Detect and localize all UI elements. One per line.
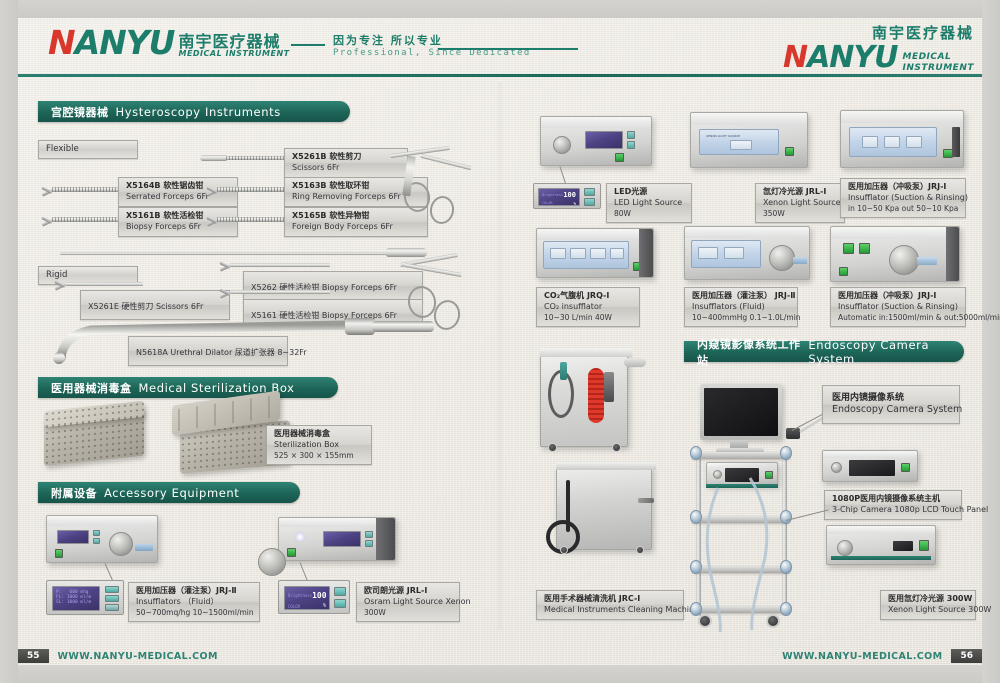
brand-slogan: 因为专注 所以专业 Professional, Since Dedicated <box>283 32 531 58</box>
device-fluid-insufflator <box>46 515 158 563</box>
lcd-closeup-osram: Brightness 100 COLOR % <box>278 580 350 614</box>
label-urethral-dilator: N5618A Urethral Dilator 尿道扩张器 8~32Fr <box>128 336 288 366</box>
brand-right-wordmark: NANYU <box>783 43 898 73</box>
label-scissors-flex: X5261B 软性剪刀 Scissors 6Fr <box>284 148 408 178</box>
slogan-dash-left <box>291 44 325 46</box>
brand-right-sub1: MEDICAL <box>902 52 974 62</box>
label-fluid-insufflator-2: 医用加压器（灌注泵） JRJ-Ⅱ Insufflators (Fluid) 10… <box>684 287 798 327</box>
device-suction-rinsing-insufflator-2 <box>830 226 960 282</box>
device-co2-insufflator <box>536 228 654 278</box>
device-xenon-light-source: XENON LIGHT SOURCE <box>690 112 808 168</box>
label-xenon-300w: 医用氙灯冷光源 300W Xenon Light Source 300W <box>880 590 976 620</box>
label-suction-rinsing-insufflator-1: 医用加压器（冲吸泵）JRJ-Ⅰ Insufflator (Suction & R… <box>840 178 966 218</box>
page-gutter <box>498 82 502 630</box>
catalog-page-spread: NANYU 南宇医疗器械 MEDICAL INSTRUMENT 因为专注 所以专… <box>0 0 1000 683</box>
label-led-light-source: LED光源 LED Light Source 80W <box>606 183 692 223</box>
brand-right-sub2: INSTRUMENT <box>902 63 974 73</box>
tag-flexible: Flexible <box>38 140 138 159</box>
page-number-left: 55 <box>18 649 49 663</box>
device-osram-light-source <box>278 517 396 561</box>
brand-chinese-name: 南宇医疗器械 <box>178 34 289 50</box>
section-banner-sterilization: 医用器械消毒盒 Medical Sterilization Box <box>38 377 338 398</box>
device-xenon-300w <box>826 525 936 565</box>
frame-left-edge <box>0 0 18 683</box>
instrument-long-shaft-hub <box>385 248 427 257</box>
frame-bottom-edge <box>0 665 1000 683</box>
slogan-dash-right <box>438 48 578 50</box>
page-header: NANYU 南宇医疗器械 MEDICAL INSTRUMENT 因为专注 所以专… <box>18 18 982 80</box>
label-foreign-body-forceps: X5165B 软性异物钳 Foreign Body Forceps 6Fr <box>284 207 428 237</box>
header-divider-rule <box>18 74 982 77</box>
instrument-long-shaft <box>60 252 390 255</box>
brand-logo-right: 南宇医疗器械 NANYU MEDICAL INSTRUMENT <box>783 22 974 73</box>
lcd-closeup-fluid-insufflator: P: 600 mhg FL: 1000 ml/m SL: 1000 ml/m <box>46 580 124 615</box>
label-cleaning-machine: 医用手术器械清洗机 JRC-Ⅰ Medical Instruments Clea… <box>536 590 684 620</box>
section-banner-camera-system: 内窥镜影像系统工作站 Endoscopy Camera System <box>684 341 964 362</box>
label-camera-system: 医用内镜摄像系统 Endoscopy Camera System <box>822 385 960 424</box>
slogan-chinese: 因为专注 所以专业 <box>333 32 531 48</box>
lcd-closeup-led: Brightness 100 COLOR % <box>533 183 601 209</box>
device-fluid-insufflator-2 <box>684 226 810 280</box>
label-co2-insufflator: CO₂气腹机 JRQ-Ⅰ CO₂ insufflator 10~30 L/min… <box>536 287 640 327</box>
label-xenon-light-source: 氙灯冷光源 JRL-Ⅰ Xenon Light Source 350W <box>755 183 845 223</box>
label-1080p-camera-host: 1080P医用内镜摄像系统主机 3-Chip Camera 1080p LCD … <box>824 490 962 520</box>
light-source-adapter-icon <box>258 548 286 576</box>
frame-right-edge <box>982 0 1000 683</box>
device-1080p-camera-host <box>822 450 918 482</box>
device-suction-rinsing-insufflator-1 <box>840 110 964 168</box>
brand-subtitle: MEDICAL INSTRUMENT <box>178 50 289 59</box>
label-suction-rinsing-insufflator-2: 医用加压器（冲吸泵）JRJ-Ⅰ Insufflator (Suction & R… <box>830 287 966 327</box>
website-url-right[interactable]: WWW.NANYU-MEDICAL.COM <box>773 651 951 662</box>
brand-logo-left: NANYU 南宇医疗器械 MEDICAL INSTRUMENT <box>48 26 290 59</box>
page-number-right: 56 <box>951 649 982 663</box>
trolley-monitor <box>700 384 782 440</box>
website-url-left[interactable]: WWW.NANYU-MEDICAL.COM <box>49 651 227 662</box>
label-sterilization-box: 医用器械消毒盒 Sterilization Box 525 × 300 × 15… <box>266 425 372 465</box>
section-banner-hysteroscopy: 宫腔镜器械 Hysteroscopy Instruments <box>38 101 350 122</box>
frame-top-edge <box>0 0 1000 18</box>
footer-right: WWW.NANYU-MEDICAL.COM 56 <box>773 647 982 665</box>
device-led-light-source <box>540 116 652 166</box>
section-banner-accessory: 附属设备 Accessory Equipment <box>38 482 300 503</box>
label-osram-light-source: 欧司朗光源 JRL-Ⅰ Osram Light Source Xenon 300… <box>356 582 460 622</box>
label-rigid-biopsy-1: X5262 硬性活检钳 Biopsy Forceps 6Fr <box>243 271 423 301</box>
label-fluid-insufflator: 医用加压器（灌注泵）JRJ-Ⅱ Insufflators （Fluid） 50~… <box>128 582 260 622</box>
footer-left: 55 WWW.NANYU-MEDICAL.COM <box>18 647 227 665</box>
brand-wordmark: NANYU <box>48 26 174 59</box>
